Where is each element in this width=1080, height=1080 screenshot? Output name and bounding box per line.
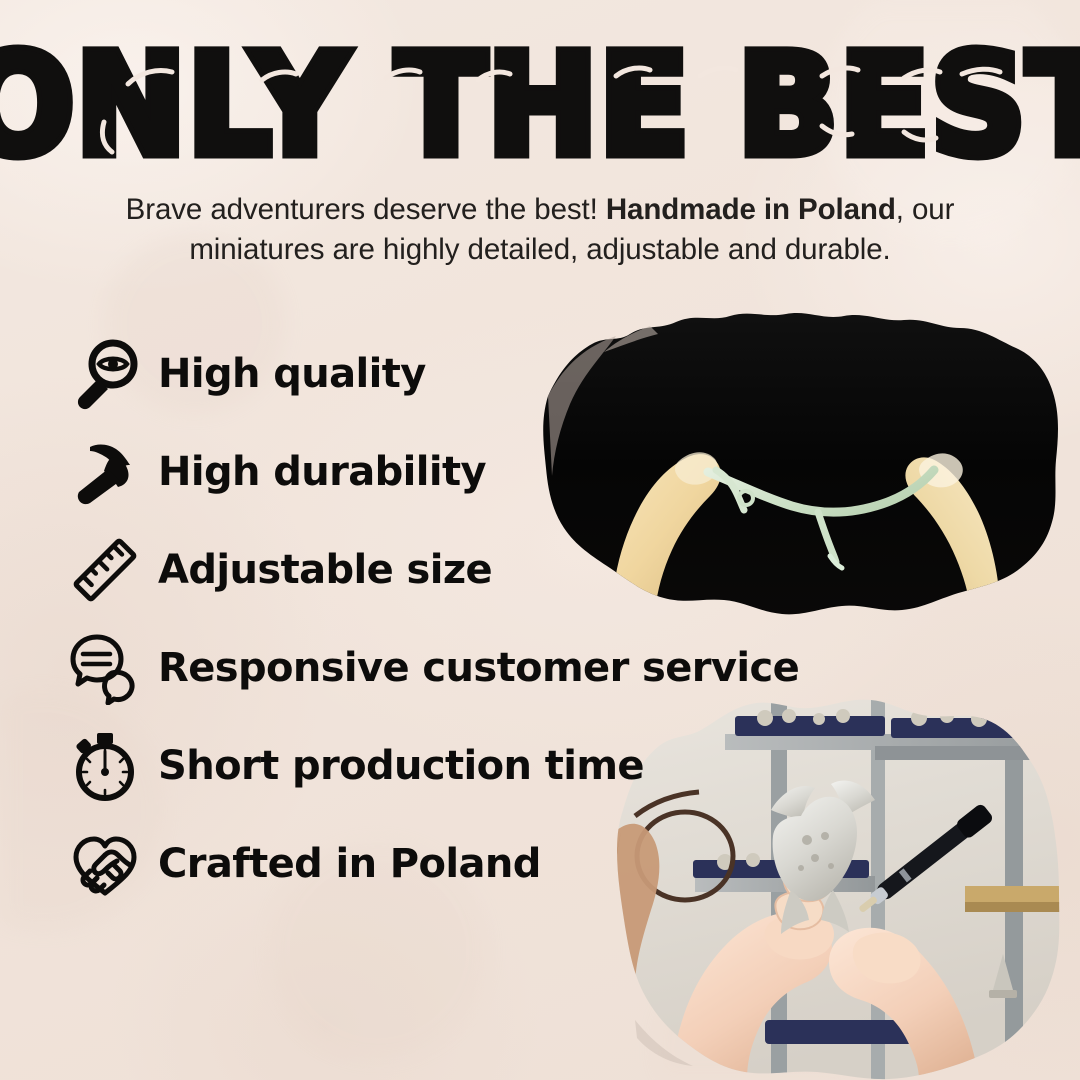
hammer-icon [62,429,148,515]
feature-label: High quality [158,351,426,397]
feature-label: Adjustable size [158,547,492,593]
heart-handshake-icon [62,821,148,907]
subtitle-bold: Handmade in Poland [606,193,896,226]
feature-item-high-quality: High quality [62,325,782,423]
feature-item-short-production-time: Short production time [62,717,782,815]
subtitle: Brave adventurers deserve the best! Hand… [90,190,990,270]
feature-item-high-durability: High durability [62,423,782,521]
feature-label: High durability [158,449,486,495]
speech-bubbles-icon [62,625,148,711]
page-title: ONLY THE BEST [0,34,1080,176]
feature-item-adjustable-size: Adjustable size [62,521,782,619]
subtitle-lead: Brave adventurers deserve the best! [126,193,606,226]
poster-root: ONLY THE BEST Brave adventurers deserve … [0,0,1080,1080]
stopwatch-icon [62,723,148,809]
title-block: ONLY THE BEST [0,34,1080,154]
ruler-icon [62,527,148,613]
feature-item-crafted-in-poland: Crafted in Poland [62,815,782,913]
magnifier-eye-icon [62,331,148,417]
feature-label: Responsive customer service [158,645,799,691]
feature-item-responsive-customer-service: Responsive customer service [62,619,782,717]
feature-label: Short production time [158,743,644,789]
feature-list: High quality High durability [62,325,782,913]
feature-label: Crafted in Poland [158,841,541,887]
